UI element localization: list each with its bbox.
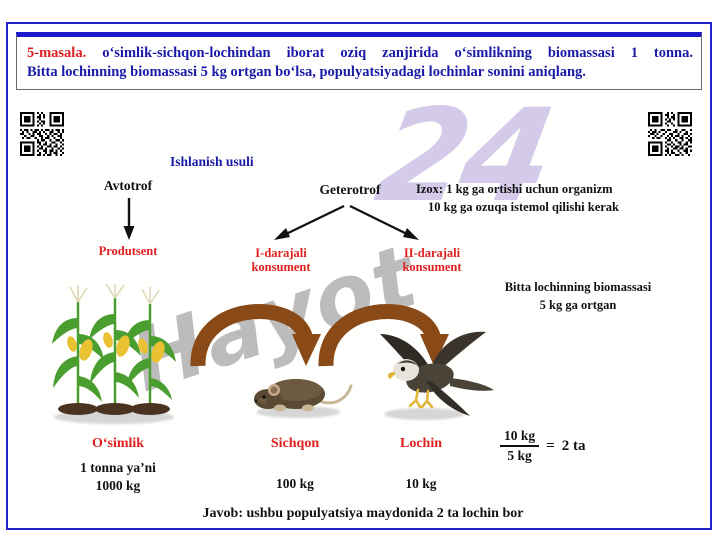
problem-statement-box: 5-masala. o‘simlik-sichqon-lochindan ibo… <box>16 32 702 90</box>
organism-mass-mouse: 100 kg <box>240 476 350 492</box>
qr-code-left[interactable] <box>20 112 64 156</box>
explanation-line-1: Izox: 1 kg ga ortishi uchun organizm <box>416 182 688 197</box>
fraction-numerator: 10 kg <box>500 428 539 445</box>
heterotroph-branch-arrows <box>244 202 444 250</box>
calculation-result: 2 ta <box>562 438 586 455</box>
corn-plant-icon <box>50 284 180 416</box>
fraction-denominator: 5 kg <box>500 447 539 464</box>
explanation-line-2: 10 kg ga ozuqa istemol qilishi kerak <box>428 200 696 215</box>
calculation-fraction: 10 kg 5 kg = 2 ta <box>500 428 585 464</box>
autotroph-label: Avtotrof <box>80 178 176 194</box>
consumer-2-label-line-1: II-darajali <box>386 246 478 261</box>
mouse-icon <box>252 366 356 418</box>
organism-name-mouse: Sichqon <box>240 436 350 453</box>
fraction-block: 10 kg 5 kg <box>500 428 539 464</box>
organism-mass-plant-line-1: 1 tonna ya’ni <box>50 460 186 476</box>
falcon-note-line-2: 5 kg ga ortgan <box>468 298 688 313</box>
organism-mass-plant-line-2: 1000 kg <box>50 478 186 494</box>
problem-statement-line-2: Bitta lochinning biomassasi 5 kg ortgan … <box>27 63 693 82</box>
heterotroph-label: Geterotrof <box>298 182 402 198</box>
organism-name-falcon: Lochin <box>370 436 472 453</box>
falcon-note-line-1: Bitta lochinning biomassasi <box>468 280 688 295</box>
slide-canvas: 24 Hayot 5-masala. o‘simlik-sichqon-loch… <box>6 22 712 530</box>
answer-line: Javob: ushbu populyatsiya maydonida 2 ta… <box>128 506 598 523</box>
organism-mass-falcon: 10 kg <box>370 476 472 492</box>
consumer-1-label-line-2: konsument <box>236 260 326 275</box>
autotroph-to-producer-arrow <box>116 196 142 242</box>
problem-number-label: 5-masala. <box>27 45 86 61</box>
consumer-2-label-line-2: konsument <box>386 260 478 275</box>
organism-name-plant: O‘simlik <box>60 436 176 453</box>
equals-sign: = <box>546 438 555 455</box>
consumer-1-label-line-1: I-darajali <box>236 246 326 261</box>
method-heading: Ishlanish usuli <box>170 154 254 170</box>
problem-statement-line-1-text: o‘simlik-sichqon-lochindan iborat oziq z… <box>86 45 693 61</box>
falcon-icon <box>374 328 496 420</box>
producer-label: Produtsent <box>72 244 184 259</box>
qr-code-right[interactable] <box>648 112 692 156</box>
problem-statement-line-1: 5-masala. o‘simlik-sichqon-lochindan ibo… <box>27 44 693 63</box>
